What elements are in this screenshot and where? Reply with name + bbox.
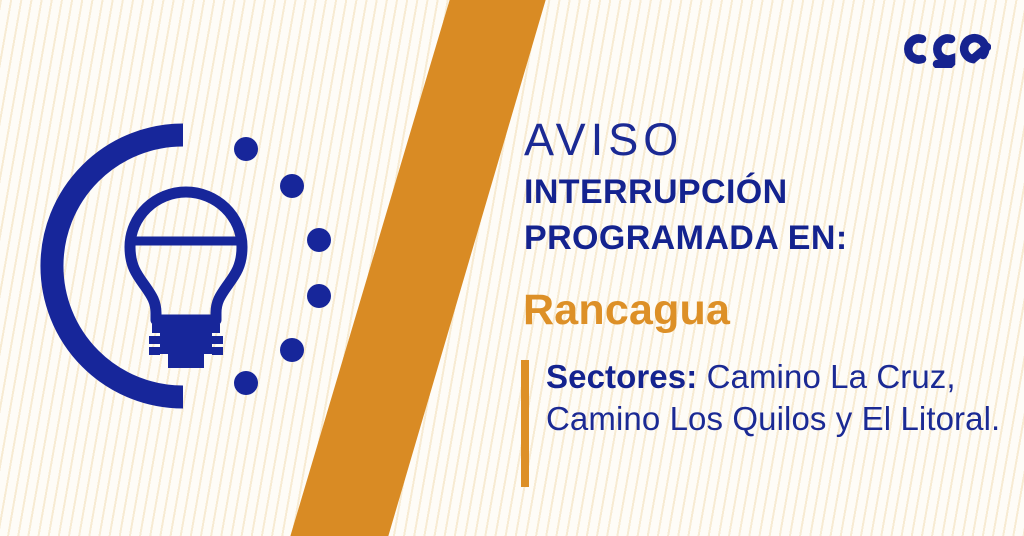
- headline-line-2: PROGRAMADA EN:: [524, 216, 994, 262]
- light-bulb-icon: [130, 192, 242, 368]
- notice-content: AVISO INTERRUPCIÓN PROGRAMADA EN: Rancag…: [521, 0, 1024, 536]
- outage-illustration: [0, 0, 400, 536]
- city-name: Rancagua: [523, 289, 730, 332]
- sectors-block: Sectores: Camino La Cruz, Camino Los Qui…: [521, 360, 1021, 487]
- cge-wordmark-logo[interactable]: [895, 28, 991, 68]
- orange-accent-bar: [521, 360, 529, 487]
- dot-arc-icon: [234, 137, 331, 395]
- power-arc-icon: [52, 135, 183, 397]
- outage-notice-banner: AVISO INTERRUPCIÓN PROGRAMADA EN: Rancag…: [0, 0, 1024, 536]
- sectors-label: Sectores:: [546, 358, 697, 395]
- sectors-text: Sectores: Camino La Cruz, Camino Los Qui…: [546, 356, 1021, 440]
- page-title: INTERRUPCIÓN PROGRAMADA EN:: [524, 170, 994, 261]
- kicker-aviso: AVISO: [524, 117, 683, 162]
- headline-line-1: INTERRUPCIÓN: [524, 170, 994, 216]
